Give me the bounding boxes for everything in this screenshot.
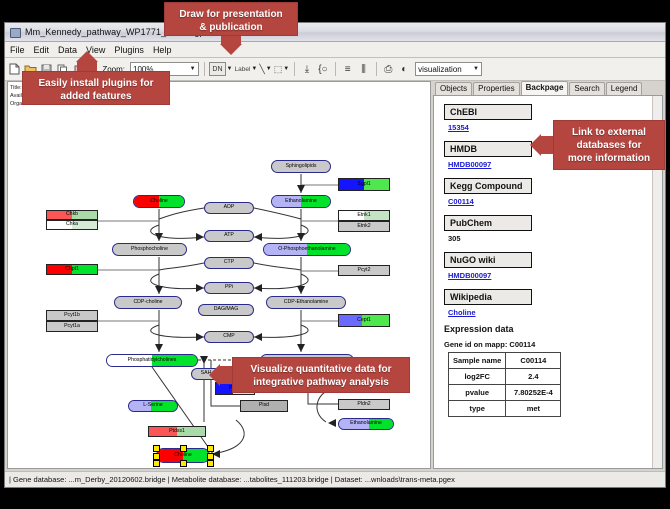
chevron-down-icon: ▼: [227, 66, 233, 72]
gene-node-pcyt1b[interactable]: Pcyt1b: [46, 310, 98, 321]
selection-handle[interactable]: [153, 453, 160, 460]
db-link-nugo[interactable]: HMDB00097: [448, 271, 662, 280]
db-name-hmdb: HMDB: [444, 141, 532, 157]
selection-handle[interactable]: [180, 445, 187, 452]
db-name-chebi: ChEBI: [444, 104, 532, 120]
menu-item-file[interactable]: File: [10, 45, 25, 55]
tab-legend[interactable]: Legend: [606, 82, 643, 95]
callout-link-to-external-databases: Link to externaldatabases formore inform…: [553, 120, 665, 170]
chevron-down-icon: ▼: [266, 66, 272, 72]
menu-item-data[interactable]: Data: [58, 45, 77, 55]
metabolite-node-phosphocholine[interactable]: Phosphocholine: [112, 243, 187, 256]
db-link-wikipedia[interactable]: Choline: [448, 308, 662, 317]
table-row: log2FC 2.4: [449, 369, 561, 385]
expr-val-type: met: [506, 401, 561, 417]
misc-icon[interactable]: ◐: [397, 61, 411, 77]
metabolite-node-ctp[interactable]: CTP: [204, 257, 254, 269]
visualization-combobox[interactable]: visualization ▼: [415, 62, 482, 76]
db-block-wikipedia: Wikipedia Choline: [444, 287, 662, 317]
shape-tool[interactable]: ⬚ ▼: [274, 64, 289, 75]
metabolite-node-dagmag[interactable]: DAG/MAG: [198, 304, 254, 316]
callout-links-text: Link to externaldatabases formore inform…: [568, 127, 650, 164]
expr-key-type: type: [449, 401, 506, 417]
node-label: Pcyt2: [358, 268, 371, 273]
callout-draw-text: Draw for presentation& publication: [179, 9, 282, 33]
expression-table: Sample name C00114 log2FC 2.4 pvalue 7.8…: [448, 352, 561, 417]
node-label: L-Serine: [143, 403, 163, 408]
expr-key-sample-name: Sample name: [449, 353, 506, 369]
gene-node-etnk2[interactable]: Etnk2: [338, 221, 390, 232]
db-block-kegg: Kegg Compound C00114: [444, 176, 662, 206]
metabolite-node-l-serine-left[interactable]: L-Serine: [128, 400, 178, 412]
line-icon: ╲: [259, 64, 264, 75]
node-label: CMP: [223, 334, 235, 339]
table-row: pvalue 7.80252E-4: [449, 385, 561, 401]
node-label: Chkb: [66, 212, 78, 217]
statusbar-text: | Gene database: ...m_Derby_20120602.bri…: [5, 475, 455, 484]
expr-key-log2fc: log2FC: [449, 369, 506, 385]
chevron-down-icon: ▼: [283, 66, 289, 72]
toolbar-separator-4: [335, 62, 336, 76]
gene-node-etnk1[interactable]: Etnk1: [338, 210, 390, 221]
print-icon[interactable]: ⎙: [381, 61, 395, 77]
gene-node-pcyt1a[interactable]: Pcyt1a: [46, 321, 98, 332]
node-label: Sgpl1: [357, 182, 370, 187]
datanode-tool[interactable]: DN ▼: [209, 62, 232, 76]
node-label: CDP-choline: [133, 300, 162, 305]
node-label: PPi: [225, 285, 233, 290]
anchor-icon[interactable]: ⤓: [300, 61, 314, 77]
gene-node-chka[interactable]: Chka: [46, 220, 98, 230]
metabolite-node-ppi[interactable]: PPi: [204, 282, 254, 294]
db-name-wikipedia: Wikipedia: [444, 289, 532, 305]
node-label: Etnk1: [357, 213, 370, 218]
callout-visualize-arrow: [209, 364, 220, 386]
callout-draw-arrow: [220, 44, 242, 55]
node-label: DAG/MAG: [214, 307, 239, 312]
metabolite-node-phosphatidylcholines[interactable]: Phosphatidylcholines: [106, 354, 198, 367]
gene-node-chpt1[interactable]: Chpt1: [46, 264, 98, 275]
node-label: Choline: [150, 199, 168, 204]
gene-node-cept1[interactable]: Cept1: [338, 314, 390, 327]
chevron-down-icon: ▼: [473, 66, 479, 72]
metabolite-node-choline-top[interactable]: Choline: [133, 195, 185, 208]
node-label: Pisd: [259, 403, 269, 408]
db-block-pubchem: PubChem 305: [444, 213, 662, 243]
callout-draw-for-presentation: Draw for presentation& publication: [164, 2, 298, 36]
node-label: Ptdss1: [169, 429, 185, 434]
metabolite-node-atp[interactable]: ATP: [204, 230, 254, 242]
metabolite-node-adp[interactable]: ADP: [204, 202, 254, 214]
tab-properties[interactable]: Properties: [473, 82, 519, 95]
metabolite-node-cdp-choline[interactable]: CDP-choline: [114, 296, 182, 309]
line-tool[interactable]: ╲ ▼: [259, 64, 271, 75]
expr-val-sample-name: C00114: [506, 353, 561, 369]
callout-visualize-text: Visualize quantitative data forintegrati…: [251, 364, 392, 388]
tab-backpage[interactable]: Backpage: [521, 81, 569, 95]
callout-visualize-quantitative-data: Visualize quantitative data forintegrati…: [232, 357, 410, 393]
expr-val-pvalue: 7.80252E-4: [506, 385, 561, 401]
app-icon: [9, 26, 21, 38]
callout-plugins-text: Easily install plugins foradded features: [38, 78, 153, 102]
gene-node-chkb[interactable]: Chkb: [46, 210, 98, 220]
node-label: Sphingolipids: [286, 164, 317, 169]
datanode-icon: DN: [209, 62, 225, 76]
toolbar-separator-5: [376, 62, 377, 76]
node-label: CDP-Ethanolamine: [284, 300, 328, 305]
visualization-value: visualization: [418, 65, 462, 74]
chevron-down-icon: ▼: [190, 66, 196, 72]
selection-handle[interactable]: [153, 460, 160, 467]
node-label: Ethanolamine: [350, 421, 382, 426]
gene-node-sgpl1[interactable]: Sgpl1: [338, 178, 390, 191]
expression-data-heading: Expression data: [444, 324, 662, 334]
menu-item-help[interactable]: Help: [153, 45, 172, 55]
shape-icon: ⬚: [274, 64, 283, 75]
selection-handle[interactable]: [207, 460, 214, 467]
callout-plugins-arrow: [76, 51, 98, 62]
screenshot-root: Mm_Kennedy_pathway_WP1771_45176.gpml Fil…: [0, 0, 670, 509]
metabolite-node-cdp-ethanolamine[interactable]: CDP-Ethanolamine: [266, 296, 346, 309]
db-name-pubchem: PubChem: [444, 215, 532, 231]
metabolite-node-cmp[interactable]: CMP: [204, 331, 254, 343]
node-label: Ethanolamine: [285, 199, 317, 204]
db-link-kegg[interactable]: C00114: [448, 197, 662, 206]
gene-node-pldn2[interactable]: Pldn2: [338, 399, 390, 410]
new-file-icon[interactable]: [8, 61, 22, 77]
db-name-kegg: Kegg Compound: [444, 178, 532, 194]
db-value-pubchem: 305: [448, 234, 662, 243]
node-label: Pcyt1b: [64, 313, 80, 318]
selection-handle[interactable]: [180, 460, 187, 467]
node-label: Chpt1: [65, 267, 79, 272]
window-titlebar: Mm_Kennedy_pathway_WP1771_45176.gpml: [5, 23, 665, 42]
gene-node-pcyt2[interactable]: Pcyt2: [338, 265, 390, 276]
selection-handle[interactable]: [153, 445, 160, 452]
gene-node-ptdss1[interactable]: Ptdss1: [148, 426, 206, 437]
node-label: O-Phosphoethanolamine: [278, 247, 335, 252]
metabolite-node-ethanolamine[interactable]: Ethanolamine: [271, 195, 331, 208]
menu-item-plugins[interactable]: Plugins: [114, 45, 144, 55]
metabolite-node-o-phosphoethanolamine[interactable]: O-Phosphoethanolamine: [263, 243, 351, 256]
label-tool[interactable]: Label ▼: [234, 66, 257, 73]
selection-handle[interactable]: [207, 445, 214, 452]
tab-objects[interactable]: Objects: [435, 82, 472, 95]
statusbar: | Gene database: ...m_Derby_20120602.bri…: [5, 471, 665, 487]
toolbar-separator-3: [294, 62, 295, 76]
node-label: Phosphocholine: [131, 247, 168, 252]
distribute-icon[interactable]: ⫼: [357, 61, 371, 77]
expr-val-log2fc: 2.4: [506, 369, 561, 385]
menu-item-edit[interactable]: Edit: [34, 45, 50, 55]
db-block-nugo: NuGO wiki HMDB00097: [444, 250, 662, 280]
callout-easily-install-plugins: Easily install plugins foradded features: [22, 71, 170, 105]
callout-links-arrow: [530, 134, 541, 156]
node-label: CTP: [224, 260, 234, 265]
metabolite-node-ethanolamine-bottom[interactable]: Ethanolamine: [338, 418, 394, 430]
label-tool-text: Label: [234, 66, 250, 73]
gene-node-pisd[interactable]: Pisd: [240, 400, 288, 412]
menubar: File Edit Data View Plugins Help: [5, 42, 665, 58]
node-label: Choline: [174, 453, 192, 458]
db-name-nugo: NuGO wiki: [444, 252, 532, 268]
metabolite-node-sphingolipids[interactable]: Sphingolipids: [271, 160, 331, 173]
bracket-icon[interactable]: {○: [316, 61, 330, 77]
pathway-canvas[interactable]: Title: Availa Organ: [7, 81, 431, 469]
align-icon[interactable]: ≡: [341, 61, 355, 77]
toolbar-separator-2: [204, 62, 205, 76]
table-row: type met: [449, 401, 561, 417]
node-label: Cept1: [357, 318, 371, 323]
node-label: Phosphatidylcholines: [128, 358, 177, 363]
node-label: ATP: [224, 233, 234, 238]
node-label: Chka: [66, 222, 78, 227]
gene-id-on-mapp: Gene id on mapp: C00114: [444, 340, 662, 349]
node-label: ADP: [224, 205, 235, 210]
tab-search[interactable]: Search: [569, 82, 604, 95]
selection-handle[interactable]: [207, 453, 214, 460]
expr-key-pvalue: pvalue: [449, 385, 506, 401]
chevron-down-icon: ▼: [251, 66, 257, 72]
node-label: Pcyt1a: [64, 324, 80, 329]
side-panel-tabs: Objects Properties Backpage Search Legen…: [433, 81, 663, 95]
node-label: Pldn2: [357, 402, 370, 407]
node-label: Etnk2: [357, 224, 370, 229]
table-row: Sample name C00114: [449, 353, 561, 369]
